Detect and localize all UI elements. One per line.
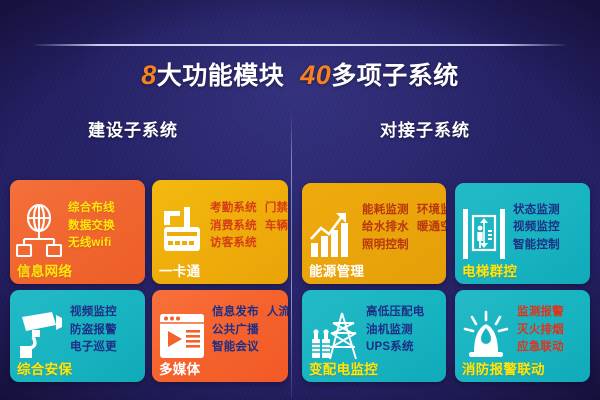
list-item: 消费系统	[210, 219, 257, 233]
list-item: UPS系统	[366, 340, 414, 354]
list-item: 给水排水	[362, 220, 409, 234]
list-item: 考勤系统	[210, 201, 257, 215]
headline-text-subsystems: 多项子系统	[331, 62, 459, 90]
list-item: 照明控制	[362, 238, 409, 252]
item-row: 无线wifi	[68, 236, 141, 250]
list-item: 信息发布	[212, 305, 259, 319]
headline-text-modules: 大功能模块	[157, 62, 285, 90]
list-item: 视频监控	[513, 220, 560, 234]
card-elevator-group-control[interactable]: 状态监测 视频监控 智能控制 电梯群控	[455, 183, 590, 284]
column-header-construction: 建设子系统	[88, 116, 178, 141]
card-energy-management[interactable]: 能耗监测 环境监测 给水排水 暖通空调 照明控制 能源管理	[302, 183, 446, 284]
card-title: 一卡通	[159, 260, 200, 280]
card-title: 能源管理	[309, 260, 364, 280]
list-item: 油机监测	[366, 323, 413, 337]
item-row: 能耗监测 环境监测	[362, 203, 446, 217]
card-title: 信息网络	[17, 260, 72, 280]
item-row: 电子巡更	[70, 340, 141, 354]
card-substation-monitoring[interactable]: 高低压配电 油机监测 UPS系统 变配电监控	[302, 290, 446, 382]
list-item: 智能会议	[212, 340, 259, 354]
item-row: 油机监测	[366, 323, 442, 337]
item-row: 应急联动	[517, 340, 586, 354]
card-energy-management-items: 能耗监测 环境监测 给水排水 暖通空调 照明控制	[358, 183, 446, 284]
list-item: 暖通空调	[417, 220, 446, 234]
column-header-integration: 对接子系统	[380, 116, 470, 141]
list-item: 无线wifi	[68, 236, 111, 250]
item-row: 访客系统	[210, 236, 288, 250]
list-item: 应急联动	[517, 340, 564, 354]
list-item: 电子巡更	[70, 340, 117, 354]
item-row: 数据交换	[68, 219, 141, 233]
column-divider	[291, 112, 292, 397]
card-title: 消防报警联动	[462, 358, 545, 378]
card-info-network[interactable]: 综合布线 数据交换 无线wifi 信息网络	[10, 180, 145, 284]
card-multimedia-items: 信息发布 人流统计 公共广播 智能会议	[208, 290, 288, 382]
item-row: 智能会议	[212, 340, 288, 354]
item-row: 综合布线	[68, 201, 141, 215]
item-row: 消费系统 车辆管理	[210, 219, 288, 233]
item-row: 公共广播	[212, 323, 288, 337]
list-item: 门禁系统	[265, 201, 288, 215]
item-row: 灭火排烟	[517, 323, 586, 337]
card-info-network-items: 综合布线 数据交换 无线wifi	[64, 180, 145, 284]
header-divider-line	[34, 44, 566, 46]
item-row: 状态监测	[513, 203, 586, 217]
list-item: 防盗报警	[70, 323, 117, 337]
list-item: 人流统计	[267, 305, 288, 319]
list-item: 灭火排烟	[517, 323, 564, 337]
item-row: 高低压配电	[366, 305, 442, 319]
item-row: 给水排水 暖通空调	[362, 220, 446, 234]
item-row: 照明控制	[362, 238, 446, 252]
list-item: 监测报警	[517, 305, 564, 319]
item-row: 监测报警	[517, 305, 586, 319]
item-row: 信息发布 人流统计	[212, 305, 288, 319]
card-security-items: 视频监控 防盗报警 电子巡更	[66, 290, 145, 382]
page-title: 8大功能模块40多项子系统	[0, 56, 600, 92]
list-item: 环境监测	[417, 203, 446, 217]
item-row: 智能控制	[513, 238, 586, 252]
card-multimedia[interactable]: 信息发布 人流统计 公共广播 智能会议 多媒体	[152, 290, 288, 382]
list-item: 公共广播	[212, 323, 259, 337]
card-one-card[interactable]: 考勤系统 门禁系统 消费系统 车辆管理 访客系统 一卡通	[152, 180, 288, 284]
infographic-canvas: 8大功能模块40多项子系统 建设子系统 对接子系统	[0, 0, 600, 400]
card-title: 多媒体	[159, 358, 200, 378]
list-item: 视频监控	[70, 305, 117, 319]
item-row: 视频监控	[70, 305, 141, 319]
list-item: 状态监测	[513, 203, 560, 217]
card-integrated-security[interactable]: 视频监控 防盗报警 电子巡更 综合安保	[10, 290, 145, 382]
card-elevator-items: 状态监测 视频监控 智能控制	[509, 183, 590, 284]
headline-number-subsystems: 40	[300, 60, 331, 90]
card-title: 电梯群控	[462, 260, 517, 280]
list-item: 智能控制	[513, 238, 560, 252]
headline-number-modules: 8	[141, 60, 157, 90]
list-item: 能耗监测	[362, 203, 409, 217]
item-row: UPS系统	[366, 340, 442, 354]
list-item: 综合布线	[68, 201, 115, 215]
card-title: 变配电监控	[309, 358, 378, 378]
list-item: 访客系统	[210, 236, 257, 250]
item-row: 防盗报警	[70, 323, 141, 337]
list-item: 车辆管理	[265, 219, 288, 233]
list-item: 数据交换	[68, 219, 115, 233]
card-title: 综合安保	[17, 358, 72, 378]
list-item: 高低压配电	[366, 305, 425, 319]
item-row: 视频监控	[513, 220, 586, 234]
card-fire-alarm-linkage[interactable]: 监测报警 灭火排烟 应急联动 消防报警联动	[455, 290, 590, 382]
card-one-card-items: 考勤系统 门禁系统 消费系统 车辆管理 访客系统	[206, 180, 288, 284]
item-row: 考勤系统 门禁系统	[210, 201, 288, 215]
